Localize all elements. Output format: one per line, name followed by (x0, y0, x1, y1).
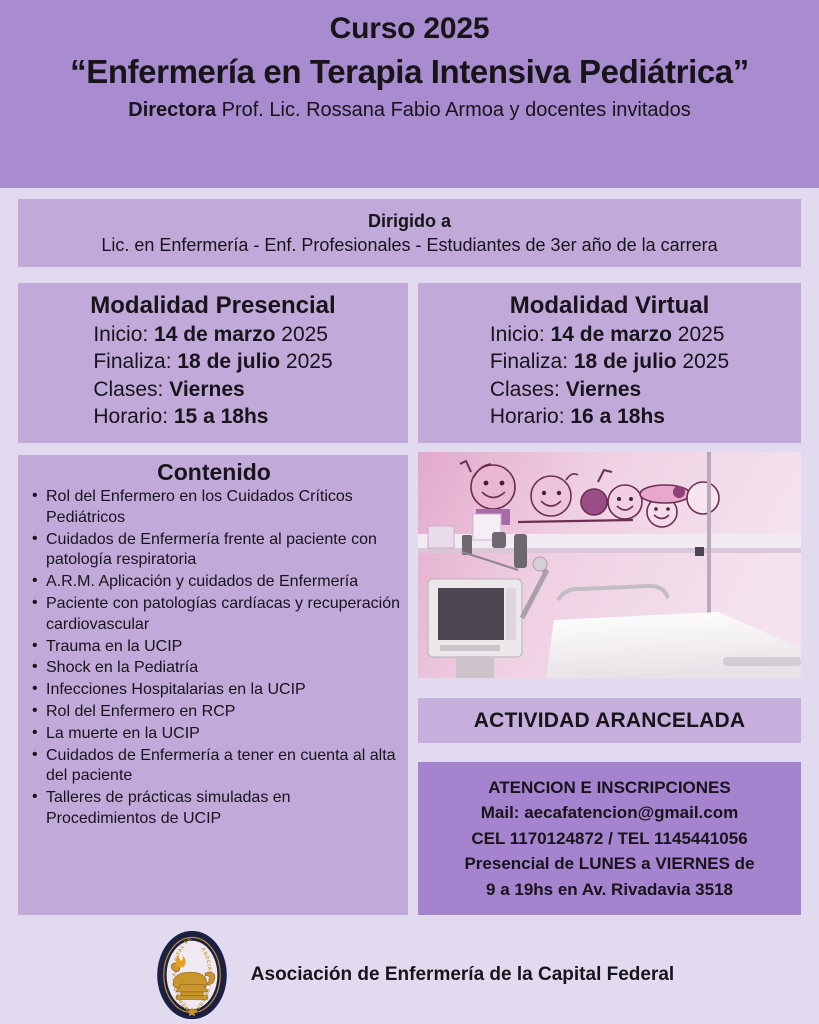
modality-row-value: 16 a 18hs (570, 405, 665, 428)
poster-footer: ASOCIACION DE ENFERMERIA DE LA CAPITAL F… (0, 925, 819, 1024)
modality-row-value: 15 a 18hs (174, 405, 269, 428)
list-item: A.R.M. Aplicación y cuidados de Enfermer… (28, 572, 400, 593)
modality-row-year: 2025 (672, 323, 725, 346)
director-name: Prof. Lic. Rossana Fabio Armoa y docente… (216, 99, 691, 121)
list-item: Rol del Enfermero en RCP (28, 702, 400, 723)
audience-panel: Dirigido a Lic. en Enfermería - Enf. Pro… (18, 199, 801, 267)
modality-row-label: Inicio: (93, 323, 154, 346)
modality-row: Horario: 16 a 18hs (490, 403, 729, 430)
modality-row-label: Finaliza: (93, 350, 177, 373)
modality-row: Inicio: 14 de marzo 2025 (93, 321, 332, 348)
list-item: Cuidados de Enfermería frente al pacient… (28, 530, 400, 572)
modality-row: Clases: Viernes (93, 376, 332, 403)
modality-row-value: 18 de julio (177, 350, 280, 373)
contact-line[interactable]: Mail: aecafatencion@gmail.com (481, 800, 738, 826)
page-title: “Enfermería en Terapia Intensiva Pediátr… (30, 54, 789, 91)
association-logo: ASOCIACION DE ENFERMERIA DE LA CAPITAL F… (145, 928, 239, 1022)
arancelada-badge: ACTIVIDAD ARANCELADA (418, 698, 801, 743)
modality-row: Finaliza: 18 de julio 2025 (93, 348, 332, 375)
modality-row-label: Finaliza: (490, 350, 574, 373)
modality-row-value: 14 de marzo (154, 323, 275, 346)
director-line: Directora Prof. Lic. Rossana Fabio Armoa… (128, 99, 691, 122)
organization-name: Asociación de Enfermería de la Capital F… (251, 964, 674, 986)
modality-presencial-panel: Modalidad Presencial Inicio: 14 de marzo… (18, 283, 408, 443)
list-item: Infecciones Hospitalarias en la UCIP (28, 680, 400, 701)
list-item: Shock en la Pediatría (28, 658, 400, 679)
modality-row-year: 2025 (280, 350, 333, 373)
modality-row-value: 18 de julio (574, 350, 677, 373)
audience-subtitle: Lic. en Enfermería - Enf. Profesionales … (101, 235, 717, 256)
list-item: La muerte en la UCIP (28, 724, 400, 745)
modality-row-label: Clases: (490, 378, 566, 401)
modality-title: Modalidad Presencial (90, 292, 335, 320)
poster-header: Curso 2025 “Enfermería en Terapia Intens… (0, 0, 819, 188)
modality-row-year: 2025 (677, 350, 730, 373)
list-item: Talleres de prácticas simuladas en Proce… (28, 788, 400, 830)
modality-row: Clases: Viernes (490, 376, 729, 403)
contact-line[interactable]: Presencial de LUNES a VIERNES de (464, 851, 754, 877)
modality-row: Inicio: 14 de marzo 2025 (490, 321, 729, 348)
lamp-seal-icon: ASOCIACION DE ENFERMERIA DE LA CAPITAL F… (145, 928, 239, 1022)
modality-row: Finaliza: 18 de julio 2025 (490, 348, 729, 375)
list-item: Trauma en la UCIP (28, 637, 400, 658)
contact-line[interactable]: 9 a 19hs en Av. Rivadavia 3518 (486, 877, 733, 903)
modality-row-label: Horario: (490, 405, 571, 428)
picu-room-illustration (418, 452, 801, 678)
modality-row-label: Inicio: (490, 323, 551, 346)
modality-row-year: 2025 (275, 323, 328, 346)
modality-row: Horario: 15 a 18hs (93, 403, 332, 430)
modality-row-label: Clases: (93, 378, 169, 401)
modality-row-label: Horario: (93, 405, 174, 428)
modality-virtual-panel: Modalidad Virtual Inicio: 14 de marzo 20… (418, 283, 801, 443)
modality-title: Modalidad Virtual (510, 292, 710, 320)
contact-panel[interactable]: ATENCION E INSCRIPCIONESMail: aecafatenc… (418, 762, 801, 915)
director-label: Directora (128, 99, 216, 121)
contact-line[interactable]: CEL 1170124872 / TEL 1145441056 (471, 826, 747, 852)
list-item: Rol del Enfermero en los Cuidados Crític… (28, 487, 400, 529)
modality-row-value: 14 de marzo (551, 323, 672, 346)
contenido-panel: Contenido Rol del Enfermero en los Cuida… (18, 455, 408, 915)
course-title: Curso 2025 (330, 12, 490, 47)
contenido-title: Contenido (28, 459, 400, 486)
contact-line[interactable]: ATENCION E INSCRIPCIONES (488, 775, 730, 801)
list-item: Paciente con patologías cardíacas y recu… (28, 594, 400, 636)
modality-rows: Inicio: 14 de marzo 2025Finaliza: 18 de … (93, 321, 332, 430)
list-item: Cuidados de Enfermería a tener en cuenta… (28, 746, 400, 788)
contenido-list: Rol del Enfermero en los Cuidados Crític… (28, 487, 400, 830)
poster-root: Curso 2025 “Enfermería en Terapia Intens… (0, 0, 819, 1024)
modality-row-value: Viernes (169, 378, 245, 401)
modality-rows: Inicio: 14 de marzo 2025Finaliza: 18 de … (490, 321, 729, 430)
audience-title: Dirigido a (368, 211, 451, 232)
picu-room-photo (418, 452, 801, 678)
modality-row-value: Viernes (566, 378, 642, 401)
